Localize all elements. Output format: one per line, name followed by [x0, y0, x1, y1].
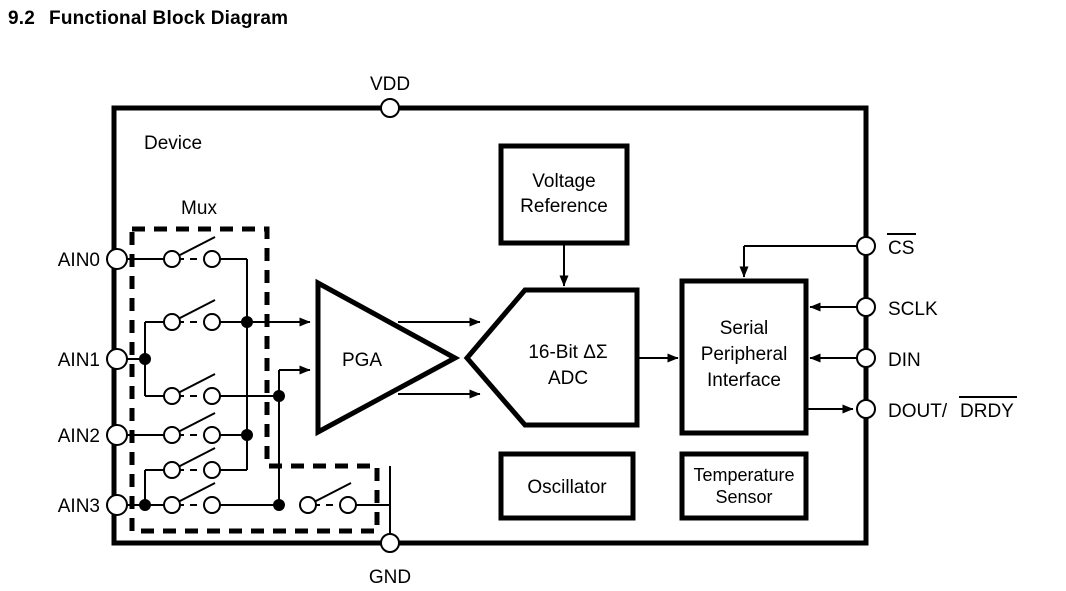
- ain3-label: AIN3: [58, 496, 100, 517]
- temperature-sensor-label-line1: Temperature: [693, 465, 794, 485]
- drdy-label: DRDY: [960, 401, 1014, 422]
- voltage-reference-block: [501, 146, 627, 243]
- cs-label: CS: [888, 238, 914, 259]
- device-label: Device: [144, 133, 202, 154]
- voltage-reference-label-line1: Voltage: [532, 171, 595, 192]
- block-diagram-page: 9.2Functional Block Diagram Device Mux V…: [0, 0, 1066, 591]
- gnd-pin[interactable]: [381, 534, 399, 552]
- functional-block-diagram: Device Mux VDD GND AIN0 AIN1 AIN2 AIN3: [0, 0, 1066, 591]
- junction-mux-gndref: [273, 499, 285, 511]
- mux-switch-7[interactable]: [300, 483, 356, 513]
- adc-label-line1: 16-Bit ΔΣ: [528, 342, 607, 363]
- sclk-label: SCLK: [888, 299, 938, 320]
- din-pin[interactable]: [857, 349, 875, 367]
- voltage-reference-label-line2: Reference: [520, 196, 608, 217]
- junction-mux-bus: [241, 429, 253, 441]
- din-label: DIN: [888, 350, 921, 371]
- pga-label: PGA: [342, 350, 382, 371]
- adc-label-line2: ADC: [548, 368, 588, 389]
- spi-label-line2: Peripheral: [701, 344, 788, 365]
- vdd-label: VDD: [370, 74, 410, 95]
- junction-ain3: [139, 499, 151, 511]
- ain1-pin[interactable]: [107, 349, 127, 369]
- mux-switch-5[interactable]: [164, 448, 220, 478]
- junction-mux-neg: [273, 390, 285, 402]
- mux-label: Mux: [181, 198, 217, 219]
- mux-input-wires: [127, 259, 168, 505]
- ain0-pin[interactable]: [107, 249, 127, 269]
- cs-pin[interactable]: [857, 237, 875, 255]
- pga-block: [318, 283, 455, 432]
- mux-switch-6[interactable]: [164, 483, 220, 513]
- temperature-sensor-block: [682, 454, 806, 518]
- dout-drdy-label: DOUT/: [888, 401, 948, 422]
- ain3-pin[interactable]: [107, 495, 127, 515]
- ain0-label: AIN0: [58, 250, 100, 271]
- junction-ain1: [139, 353, 151, 365]
- ain2-label: AIN2: [58, 426, 100, 447]
- sclk-pin[interactable]: [857, 298, 875, 316]
- mux-switch-4[interactable]: [164, 413, 220, 443]
- mux-switch-2[interactable]: [164, 300, 220, 330]
- oscillator-label: Oscillator: [527, 477, 607, 498]
- dout-drdy-pin[interactable]: [857, 400, 875, 418]
- ain1-label: AIN1: [58, 350, 100, 371]
- vdd-pin[interactable]: [381, 99, 399, 117]
- spi-label-line1: Serial: [720, 318, 769, 339]
- spi-label-line3: Interface: [707, 370, 781, 391]
- temperature-sensor-label-line2: Sensor: [715, 487, 772, 507]
- junction-mux-pos: [241, 316, 253, 328]
- mux-switch-1[interactable]: [164, 237, 220, 267]
- gnd-label: GND: [369, 567, 411, 588]
- mux-switch-3[interactable]: [164, 374, 220, 404]
- ain2-pin[interactable]: [107, 425, 127, 445]
